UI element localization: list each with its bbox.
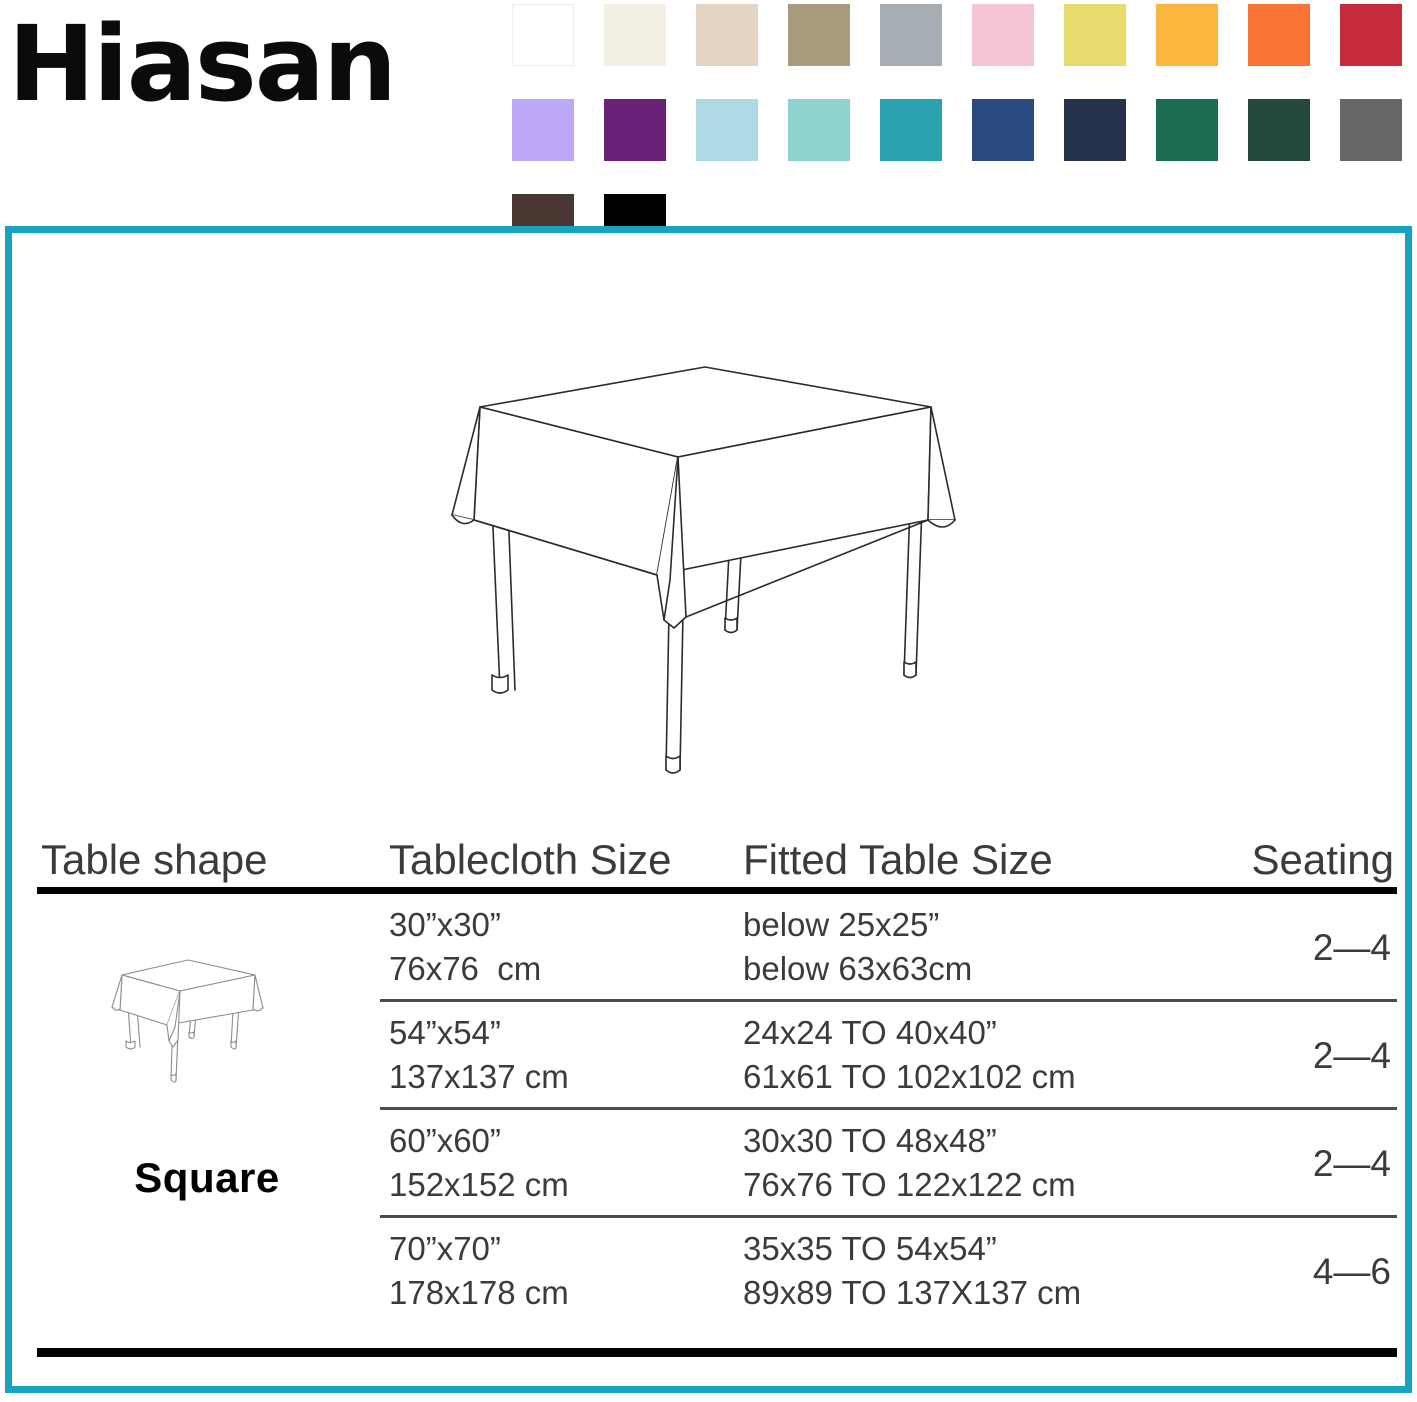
color-swatch-ivory[interactable] <box>604 4 666 66</box>
table-row: 60”x60” 152x152 cm30x30 TO 48x48” 76x76 … <box>37 1110 1397 1218</box>
header-tablecloth-size: Tablecloth Size <box>389 839 672 881</box>
cell-fitted-table-size: 35x35 TO 54x54” 89x89 TO 137X137 cm <box>743 1227 1081 1315</box>
header-table-shape: Table shape <box>41 839 268 881</box>
color-swatch-yellow[interactable] <box>1064 4 1126 66</box>
color-swatch-light-blue[interactable] <box>696 99 758 161</box>
cell-seating: 2—4 <box>1313 923 1391 973</box>
color-swatch-purple[interactable] <box>604 99 666 161</box>
color-swatch-navy[interactable] <box>1064 99 1126 161</box>
color-swatch-white[interactable] <box>512 4 574 66</box>
table-row: 70”x70” 178x178 cm35x35 TO 54x54” 89x89 … <box>37 1218 1397 1326</box>
color-swatch-lavender[interactable] <box>512 99 574 161</box>
color-swatch-beige[interactable] <box>696 4 758 66</box>
color-swatch-forest-green[interactable] <box>1248 99 1310 161</box>
color-swatch-blue[interactable] <box>972 99 1034 161</box>
size-table: Table shape Tablecloth Size Fitted Table… <box>37 819 1397 1357</box>
cell-tablecloth-size: 54”x54” 137x137 cm <box>389 1011 569 1099</box>
cell-fitted-table-size: 30x30 TO 48x48” 76x76 TO 122x122 cm <box>743 1119 1076 1207</box>
color-swatch-gray[interactable] <box>880 4 942 66</box>
cell-tablecloth-size: 30”x30” 76x76 cm <box>389 903 541 991</box>
cell-tablecloth-size: 70”x70” 178x178 cm <box>389 1227 569 1315</box>
color-swatch-dark-gray[interactable] <box>1340 99 1402 161</box>
cell-fitted-table-size: 24x24 TO 40x40” 61x61 TO 102x102 cm <box>743 1011 1076 1099</box>
color-swatch-grid <box>512 4 1407 256</box>
color-swatch-pink[interactable] <box>972 4 1034 66</box>
header-seating: Seating <box>1252 839 1394 881</box>
cell-tablecloth-size: 60”x60” 152x152 cm <box>389 1119 569 1207</box>
color-swatch-orange[interactable] <box>1248 4 1310 66</box>
header-divider <box>37 887 1397 894</box>
color-swatch-taupe[interactable] <box>788 4 850 66</box>
brand-logo: Hiasan <box>8 12 395 116</box>
cell-seating: 2—4 <box>1313 1031 1391 1081</box>
product-infographic: Hiasan <box>0 0 1417 1402</box>
color-swatch-amber[interactable] <box>1156 4 1218 66</box>
table-bottom-border <box>37 1348 1397 1357</box>
header-fitted-table-size: Fitted Table Size <box>743 839 1053 881</box>
table-row: 54”x54” 137x137 cm24x24 TO 40x40” 61x61 … <box>37 1002 1397 1110</box>
content-frame: Square Table shape Tablecloth Size Fitte… <box>5 226 1412 1393</box>
color-swatch-red[interactable] <box>1340 4 1402 66</box>
square-tablecloth-illustration <box>412 345 1002 815</box>
color-swatch-emerald[interactable] <box>1156 99 1218 161</box>
cell-seating: 2—4 <box>1313 1139 1391 1189</box>
color-swatch-teal[interactable] <box>880 99 942 161</box>
cell-fitted-table-size: below 25x25” below 63x63cm <box>743 903 972 991</box>
table-body: 30”x30” 76x76 cmbelow 25x25” below 63x63… <box>37 894 1397 1326</box>
table-header-row: Table shape Tablecloth Size Fitted Table… <box>37 819 1397 881</box>
color-swatch-aqua[interactable] <box>788 99 850 161</box>
table-row: 30”x30” 76x76 cmbelow 25x25” below 63x63… <box>37 894 1397 1002</box>
cell-seating: 4—6 <box>1313 1247 1391 1297</box>
